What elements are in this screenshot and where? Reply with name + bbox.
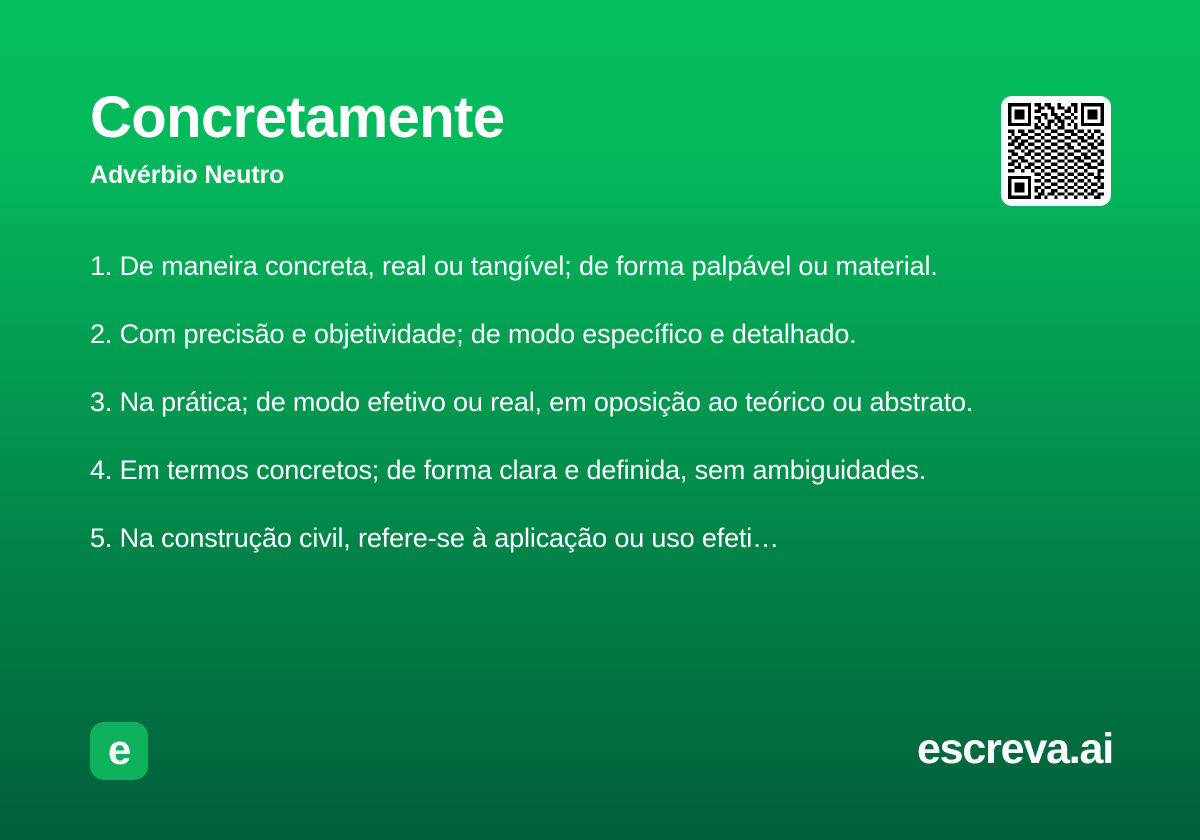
brand-wordmark: escreva.ai <box>917 724 1113 776</box>
definition-item: 3. Na prática; de modo efetivo ou real, … <box>90 384 1102 420</box>
card-header: Concretamente Advérbio Neutro <box>90 88 970 189</box>
escreva-logo-mark[interactable]: e <box>90 722 148 780</box>
logo-letter: e <box>108 729 130 771</box>
definition-item: 1. De maneira concreta, real ou tangível… <box>90 248 1102 284</box>
definitions-list: 1. De maneira concreta, real ou tangível… <box>90 248 1102 556</box>
dictionary-card: Concretamente Advérbio Neutro 1. De mane… <box>0 0 1200 840</box>
qr-code-icon <box>1008 103 1104 199</box>
qr-code-panel[interactable] <box>1001 96 1111 206</box>
card-footer: e escreva.ai <box>0 722 1200 784</box>
definition-item: 2. Com precisão e objetividade; de modo … <box>90 316 1102 352</box>
definition-item: 4. Em termos concretos; de forma clara e… <box>90 452 1102 488</box>
word-title: Concretamente <box>90 88 970 149</box>
word-class-subtitle: Advérbio Neutro <box>90 162 970 190</box>
definition-item: 5. Na construção civil, refere-se à apli… <box>90 520 1102 556</box>
